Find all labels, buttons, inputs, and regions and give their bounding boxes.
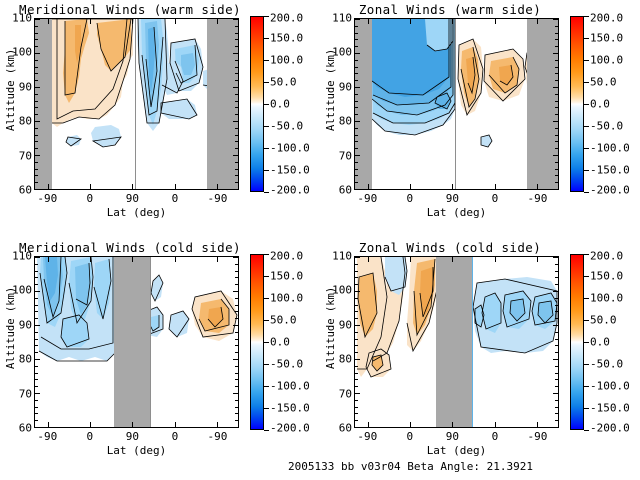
y-tick-90: 90 (19, 80, 32, 93)
axis-tick (355, 67, 358, 68)
axis-tick (355, 101, 358, 102)
axis-tick (553, 325, 558, 326)
colorbar-label: -200.0 (270, 184, 310, 197)
axis-tick (35, 420, 38, 421)
y-tick-70: 70 (19, 387, 32, 400)
axis-tick (452, 257, 453, 262)
axis-tick (555, 114, 558, 115)
axis-tick (235, 67, 238, 68)
axis-tick (35, 26, 38, 27)
axis-tick (233, 19, 238, 20)
y-tick-100: 100 (332, 284, 352, 297)
axis-tick (368, 184, 369, 189)
axis-tick (555, 386, 558, 387)
x-tick-0-b: 0 (172, 430, 179, 443)
x-tick-neg90-b: -90 (208, 430, 228, 443)
colorbar: 200.0 150.0 100.0 50.0 0.0 -50.0 -100.0 … (250, 16, 264, 192)
data-mask (35, 19, 52, 189)
axis-tick (555, 379, 558, 380)
axis-tick (35, 141, 38, 142)
axis-tick (555, 311, 558, 312)
axis-tick (355, 339, 358, 340)
axis-tick (233, 325, 238, 326)
colorbar-label: 100.0 (590, 54, 623, 67)
axis-tick (555, 305, 558, 306)
axis-tick (555, 128, 558, 129)
x-tick-90: 90 (126, 430, 139, 443)
colorbar-label: 150.0 (270, 270, 303, 283)
panel-title: Zonal Winds (cold side) (328, 240, 572, 255)
colorbar-label: -100.0 (590, 380, 630, 393)
axis-tick (537, 19, 538, 24)
colorbar-label: -200.0 (590, 422, 630, 435)
panel-title: Meridional Winds (warm side) (8, 2, 252, 17)
colorbar-label: 50.0 (590, 76, 617, 89)
plot-area[interactable] (34, 18, 239, 190)
axis-tick (355, 400, 358, 401)
axis-tick (235, 373, 238, 374)
axis-tick (355, 33, 358, 34)
axis-tick (555, 33, 558, 34)
orbit-divider (135, 19, 136, 189)
axis-tick (355, 107, 358, 108)
axis-tick (235, 73, 238, 74)
y-tick-70: 70 (339, 149, 352, 162)
axis-tick (355, 128, 358, 129)
axis-tick (553, 393, 558, 394)
axis-tick (553, 87, 558, 88)
axis-tick (35, 182, 38, 183)
axis-tick (235, 400, 238, 401)
axis-tick (233, 359, 238, 360)
axis-tick (235, 101, 238, 102)
axis-tick (235, 26, 238, 27)
axis-tick (495, 422, 496, 427)
x-tick-neg90-a: -90 (37, 192, 57, 205)
axis-tick (48, 19, 49, 24)
colorbar-gradient (570, 16, 584, 192)
axis-tick (48, 184, 49, 189)
x-tick-90: 90 (126, 192, 139, 205)
colorbar-label: -150.0 (590, 164, 630, 177)
axis-tick (355, 87, 360, 88)
axis-tick (35, 277, 38, 278)
axis-tick (355, 155, 360, 156)
axis-tick (35, 339, 38, 340)
axis-tick (235, 339, 238, 340)
y-tick-110: 110 (332, 12, 352, 25)
axis-tick (235, 128, 238, 129)
axis-tick (355, 332, 358, 333)
colorbar-label: 150.0 (590, 270, 623, 283)
axis-tick (35, 400, 38, 401)
colorbar-label: -100.0 (590, 142, 630, 155)
y-tick-90: 90 (19, 318, 32, 331)
x-axis-label: Lat (deg) (34, 206, 239, 219)
axis-tick (90, 184, 91, 189)
axis-tick (553, 121, 558, 122)
y-tick-110: 110 (12, 250, 32, 263)
axis-tick (368, 422, 369, 427)
x-tick-neg90-a: -90 (357, 430, 377, 443)
axis-tick (235, 94, 238, 95)
axis-tick (355, 182, 358, 183)
axis-tick (355, 420, 358, 421)
axis-tick (355, 60, 358, 61)
axis-tick (355, 318, 358, 319)
x-tick-0-b: 0 (492, 192, 499, 205)
axis-tick (235, 107, 238, 108)
colorbar-label: 50.0 (590, 314, 617, 327)
axis-tick (537, 257, 538, 262)
colorbar-label: 200.0 (590, 12, 623, 25)
colorbar-label: 100.0 (270, 292, 303, 305)
axis-tick (235, 345, 238, 346)
axis-tick (355, 379, 358, 380)
axis-tick (355, 73, 358, 74)
axis-tick (35, 128, 38, 129)
axis-tick (355, 257, 360, 258)
axis-tick (235, 148, 238, 149)
axis-tick (35, 305, 38, 306)
axis-tick (233, 121, 238, 122)
panel-meridional-warm: Meridional Winds (warm side) Altitude (k… (0, 0, 320, 240)
axis-tick (553, 155, 558, 156)
colorbar-label: -150.0 (270, 402, 310, 415)
axis-tick (35, 148, 38, 149)
axis-tick (132, 184, 133, 189)
axis-tick (35, 39, 38, 40)
axis-tick (35, 311, 38, 312)
axis-tick (355, 148, 358, 149)
axis-tick (35, 135, 38, 136)
axis-tick (355, 26, 358, 27)
axis-tick (555, 94, 558, 95)
axis-tick (410, 422, 411, 427)
data-mask (355, 19, 372, 189)
axis-tick (355, 162, 358, 163)
data-mask (527, 19, 558, 189)
panel-zonal-cold: Zonal Winds (cold side) Altitude (km) 60… (320, 238, 640, 478)
axis-tick (355, 413, 358, 414)
axis-tick (175, 19, 176, 24)
axis-tick (537, 422, 538, 427)
axis-tick (355, 325, 360, 326)
axis-tick (555, 277, 558, 278)
y-tick-80: 80 (339, 353, 352, 366)
axis-tick (35, 87, 40, 88)
axis-tick (555, 162, 558, 163)
axis-tick (452, 184, 453, 189)
axis-tick (355, 53, 360, 54)
colorbar-label: -200.0 (590, 184, 630, 197)
axis-tick (48, 422, 49, 427)
axis-tick (35, 407, 38, 408)
axis-tick (555, 339, 558, 340)
axis-tick (555, 373, 558, 374)
axis-tick (217, 257, 218, 262)
axis-tick (355, 264, 358, 265)
colorbar-label: 0.0 (270, 98, 290, 111)
axis-tick (35, 386, 38, 387)
axis-tick (555, 141, 558, 142)
axis-tick (355, 291, 360, 292)
axis-tick (233, 291, 238, 292)
axis-tick (355, 407, 358, 408)
colorbar-gradient (250, 254, 264, 430)
axis-tick (235, 33, 238, 34)
axis-tick (555, 318, 558, 319)
axis-tick (355, 386, 358, 387)
axis-tick (452, 422, 453, 427)
axis-tick (452, 19, 453, 24)
axis-tick (235, 271, 238, 272)
axis-tick (35, 19, 40, 20)
data-mask (207, 19, 238, 189)
colorbar-label: 100.0 (590, 292, 623, 305)
axis-tick (355, 114, 358, 115)
colorbar-label: -50.0 (590, 358, 623, 371)
axis-tick (35, 73, 38, 74)
y-tick-100: 100 (332, 46, 352, 59)
colorbar-gradient (250, 16, 264, 192)
axis-tick (233, 87, 238, 88)
axis-tick (555, 46, 558, 47)
axis-tick (355, 80, 358, 81)
axis-tick (537, 184, 538, 189)
colorbar-label: 50.0 (270, 76, 297, 89)
colorbar-label: 0.0 (590, 336, 610, 349)
colorbar: 200.0 150.0 100.0 50.0 0.0 -50.0 -100.0 … (570, 254, 584, 430)
axis-tick (555, 60, 558, 61)
axis-tick (368, 19, 369, 24)
x-tick-90: 90 (446, 430, 459, 443)
axis-tick (35, 325, 40, 326)
axis-tick (35, 107, 38, 108)
y-tick-90: 90 (339, 80, 352, 93)
colorbar-label: -150.0 (590, 402, 630, 415)
axis-tick (410, 19, 411, 24)
axis-tick (235, 332, 238, 333)
axis-tick (35, 175, 38, 176)
colorbar: 200.0 150.0 100.0 50.0 0.0 -50.0 -100.0 … (570, 16, 584, 192)
axis-tick (495, 257, 496, 262)
axis-tick (90, 257, 91, 262)
x-tick-0-a: 0 (87, 192, 94, 205)
x-axis-label: Lat (deg) (354, 444, 559, 457)
axis-tick (132, 422, 133, 427)
axis-tick (355, 271, 358, 272)
colorbar-label: 200.0 (590, 250, 623, 263)
axis-tick (410, 257, 411, 262)
axis-tick (235, 284, 238, 285)
axis-tick (235, 420, 238, 421)
axis-tick (355, 175, 358, 176)
y-tick-90: 90 (339, 318, 352, 331)
axis-tick (355, 19, 360, 20)
axis-tick (35, 155, 40, 156)
axis-tick (355, 352, 358, 353)
colorbar-label: 200.0 (270, 12, 303, 25)
axis-tick (235, 46, 238, 47)
colorbar-label: 150.0 (590, 32, 623, 45)
axis-tick (555, 271, 558, 272)
axis-tick (355, 366, 358, 367)
plot-area[interactable] (354, 18, 559, 190)
colorbar-label: -50.0 (590, 120, 623, 133)
colorbar-label: 0.0 (590, 98, 610, 111)
axis-tick (35, 121, 40, 122)
x-tick-neg90-b: -90 (528, 192, 548, 205)
data-mask (436, 257, 472, 427)
colorbar: 200.0 150.0 100.0 50.0 0.0 -50.0 -100.0 … (250, 254, 264, 430)
axis-tick (368, 257, 369, 262)
axis-tick (35, 257, 40, 258)
axis-tick (217, 422, 218, 427)
axis-tick (355, 94, 358, 95)
axis-tick (235, 135, 238, 136)
axis-tick (355, 345, 358, 346)
axis-tick (235, 379, 238, 380)
axis-tick (233, 257, 238, 258)
axis-tick (555, 26, 558, 27)
x-tick-neg90-a: -90 (357, 192, 377, 205)
axis-tick (555, 298, 558, 299)
axis-tick (555, 182, 558, 183)
axis-tick (217, 19, 218, 24)
axis-tick (35, 264, 38, 265)
y-tick-80: 80 (19, 115, 32, 128)
axis-tick (35, 359, 40, 360)
axis-tick (235, 386, 238, 387)
axis-tick (35, 46, 38, 47)
y-tick-110: 110 (332, 250, 352, 263)
axis-tick (553, 257, 558, 258)
y-tick-110: 110 (12, 12, 32, 25)
axis-tick (132, 257, 133, 262)
axis-tick (35, 101, 38, 102)
axis-tick (35, 332, 38, 333)
axis-tick (555, 400, 558, 401)
axis-tick (235, 277, 238, 278)
y-tick-80: 80 (19, 353, 32, 366)
axis-tick (235, 298, 238, 299)
y-tick-60: 60 (19, 184, 32, 197)
axis-tick (35, 373, 38, 374)
axis-tick (355, 311, 358, 312)
panel-zonal-warm: Zonal Winds (warm side) Altitude (km) 60… (320, 0, 640, 240)
axis-tick (555, 39, 558, 40)
x-tick-neg90-b: -90 (208, 192, 228, 205)
axis-tick (35, 393, 40, 394)
colorbar-label: 0.0 (270, 336, 290, 349)
axis-tick (355, 284, 358, 285)
axis-tick (235, 182, 238, 183)
axis-tick (355, 141, 358, 142)
colorbar-label: -50.0 (270, 120, 303, 133)
plot-area[interactable] (354, 256, 559, 428)
axis-tick (555, 135, 558, 136)
axis-tick (235, 169, 238, 170)
x-tick-neg90-a: -90 (37, 430, 57, 443)
axis-tick (410, 184, 411, 189)
axis-tick (235, 413, 238, 414)
axis-tick (555, 345, 558, 346)
axis-tick (355, 39, 358, 40)
axis-tick (235, 162, 238, 163)
colorbar-label: -100.0 (270, 142, 310, 155)
axis-tick (235, 407, 238, 408)
axis-tick (555, 407, 558, 408)
colorbar-label: 50.0 (270, 314, 297, 327)
plot-area[interactable] (34, 256, 239, 428)
axis-tick (355, 46, 358, 47)
axis-tick (35, 318, 38, 319)
axis-tick (355, 373, 358, 374)
axis-tick (35, 67, 38, 68)
axis-tick (553, 359, 558, 360)
x-tick-90: 90 (446, 192, 459, 205)
axis-tick (235, 80, 238, 81)
x-axis-label: Lat (deg) (354, 206, 559, 219)
axis-tick (555, 101, 558, 102)
axis-tick (555, 420, 558, 421)
axis-tick (35, 271, 38, 272)
axis-tick (175, 184, 176, 189)
panel-meridional-cold: Meridional Winds (cold side) Altitude (k… (0, 238, 320, 478)
axis-tick (235, 264, 238, 265)
y-tick-70: 70 (19, 149, 32, 162)
axis-tick (235, 141, 238, 142)
axis-tick (233, 53, 238, 54)
axis-tick (235, 318, 238, 319)
axis-tick (132, 19, 133, 24)
axis-tick (495, 19, 496, 24)
y-tick-100: 100 (12, 46, 32, 59)
axis-tick (235, 366, 238, 367)
axis-tick (235, 60, 238, 61)
axis-tick (355, 135, 358, 136)
axis-tick (35, 162, 38, 163)
x-tick-0-b: 0 (172, 192, 179, 205)
axis-tick (235, 311, 238, 312)
axis-tick (355, 121, 360, 122)
axis-tick (35, 80, 38, 81)
axis-tick (35, 413, 38, 414)
axis-tick (555, 80, 558, 81)
colorbar-label: 200.0 (270, 250, 303, 263)
panel-title: Zonal Winds (warm side) (328, 2, 572, 17)
y-tick-70: 70 (339, 387, 352, 400)
axis-tick (235, 114, 238, 115)
colorbar-label: 100.0 (270, 54, 303, 67)
y-tick-100: 100 (12, 284, 32, 297)
axis-tick (235, 39, 238, 40)
axis-tick (175, 257, 176, 262)
colorbar-label: -100.0 (270, 380, 310, 393)
y-tick-labels: 60 70 80 90 100 110 (0, 256, 32, 428)
y-tick-80: 80 (339, 115, 352, 128)
axis-tick (35, 114, 38, 115)
axis-tick (35, 366, 38, 367)
axis-tick (355, 359, 360, 360)
x-axis-label: Lat (deg) (34, 444, 239, 457)
axis-tick (355, 169, 358, 170)
axis-tick (35, 298, 38, 299)
axis-tick (35, 169, 38, 170)
y-tick-labels: 60 70 80 90 100 110 (0, 18, 32, 190)
colorbar-label: 150.0 (270, 32, 303, 45)
